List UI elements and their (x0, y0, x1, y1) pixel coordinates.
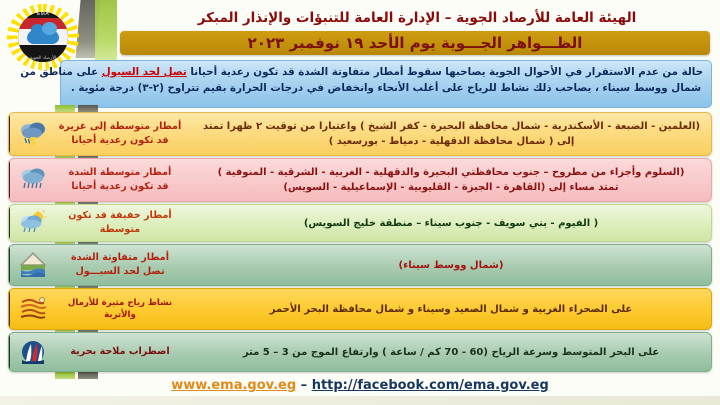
row-label-cell: أمطار خفيفة قد تكون متوسطة (9, 205, 191, 241)
summary-box: حالة من عدم الاستقرار في الأحوال الجوية … (60, 60, 712, 108)
row-label-cell: أمطار متفاوتة الشدة تصل لحد السيـــول (9, 245, 191, 285)
row-label-line-1: أمطار خفيفة قد تكون متوسطة (55, 209, 185, 237)
row-areas-line-1: (السلوم وأجزاء من مطروح – جنوب محافظتي ا… (203, 165, 699, 180)
row-label-line-1: اضطراب ملاحة بحرية (55, 345, 185, 359)
row-label-text: أمطار متوسطة الشدة قد تكون رعدية أحيانا (55, 166, 185, 194)
row-label-cell: أمطار متوسطة إلى غزيرة قد تكون رعدية أحي… (9, 113, 191, 155)
row-label-line-1: أمطار متوسطة إلى غزيرة (55, 120, 185, 134)
row-areas-cell: ( الفيوم - بني سويف - جنوب سيناء – منطقة… (191, 205, 711, 241)
cloud-icon (27, 29, 59, 44)
organization-title: الهيئة العامة للأرصاد الجوية – الإدارة ا… (120, 10, 714, 26)
row-label-line-1: نشاط رياح مثيرة للأرمال والأتربة (55, 297, 185, 322)
bottom-strip (0, 396, 720, 405)
table-row: أمطار متوسطة إلى غزيرة قد تكون رعدية أحي… (8, 112, 712, 156)
row-label-line-1: أمطار متوسطة الشدة (55, 166, 185, 180)
page-title: الظـــواهر الجـــوية يوم الأحد ١٩ نوفمبر… (248, 34, 583, 52)
table-row: اضطراب ملاحة بحرية على البحر المتوسط وسر… (8, 332, 712, 372)
table-row: نشاط رياح مثيرة للأرمال والأتربة على الص… (8, 288, 712, 330)
footer-links: www.ema.gov.eg – http://facebook.com/ema… (0, 378, 720, 393)
row-label-text: أمطار خفيفة قد تكون متوسطة (55, 209, 185, 237)
row-label-text: اضطراب ملاحة بحرية (55, 345, 185, 359)
row-areas-cell: على البحر المتوسط وسرعة الرياح (60 - 70 … (191, 333, 711, 371)
website-link[interactable]: www.ema.gov.eg (171, 378, 296, 393)
table-row: أمطار متفاوتة الشدة تصل لحد السيـــول (ش… (8, 244, 712, 286)
row-label-text: نشاط رياح مثيرة للأرمال والأتربة (55, 297, 185, 322)
logo-disc: EMA الأرصاد الجوية (18, 12, 68, 62)
weather-bulletin-page: EMA الأرصاد الجوية الهيئة العامة للأرصاد… (0, 0, 720, 405)
row-areas-cell: على الصحراء الغربية و شمال الصعيد وسيناء… (191, 289, 711, 329)
footer-separator: – (296, 378, 312, 393)
row-areas-line-2: إلى ( شمال محافظة الدقهلية - دمياط - بور… (203, 134, 700, 149)
row-areas-line-1: (العلمين - الضبعة - الأسكندرية - شمال مح… (203, 119, 700, 134)
summary-line-2: شمال ووسط سيناء ، يصاحب ذلك نشاط للرياح … (69, 81, 703, 97)
row-label-text: أمطار متفاوتة الشدة تصل لحد السيـــول (55, 251, 185, 279)
summary-text-b: على مناطق من (20, 66, 101, 78)
summary-text-a: حالة من عدم الاستقرار في الأحوال الجوية … (187, 66, 703, 78)
flood-warning-text: تصل لحد السيول (102, 66, 187, 78)
row-areas-line-1: على البحر المتوسط وسرعة الرياح (60 - 70 … (203, 345, 699, 360)
table-row: أمطار متوسطة الشدة قد تكون رعدية أحيانا … (8, 158, 712, 202)
logo-acronym: EMA (18, 12, 68, 17)
row-areas-line-1: ( الفيوم - بني سويف - جنوب سيناء – منطقة… (203, 216, 699, 231)
dust-wind-icon (16, 296, 50, 322)
row-label-line-2: تصل لحد السيـــول (55, 265, 185, 279)
row-areas-cell: (شمال ووسط سيناء) (191, 245, 711, 285)
row-areas-line-1: (شمال ووسط سيناء) (203, 258, 699, 273)
summary-line-1: حالة من عدم الاستقرار في الأحوال الجوية … (69, 65, 703, 81)
rain-cloud-icon (16, 166, 50, 194)
thunderstorm-cloud-icon (16, 120, 50, 148)
facebook-link[interactable]: http://facebook.com/ema.gov.eg (312, 378, 549, 393)
row-label-line-1: أمطار متفاوتة الشدة (55, 251, 185, 265)
bulletin-title-bar: الظـــواهر الجـــوية يوم الأحد ١٩ نوفمبر… (120, 31, 710, 55)
rough-sea-waves-icon (16, 340, 50, 364)
row-areas-line-1: على الصحراء الغربية و شمال الصعيد وسيناء… (203, 302, 699, 317)
row-areas-cell: (السلوم وأجزاء من مطروح – جنوب محافظتي ا… (191, 159, 711, 201)
logo-subtext: الأرصاد الجوية (18, 56, 68, 61)
row-label-text: أمطار متوسطة إلى غزيرة قد تكون رعدية أحي… (55, 120, 185, 148)
row-label-cell: نشاط رياح مثيرة للأرمال والأتربة (9, 289, 191, 329)
flood-torrent-icon (16, 251, 50, 279)
table-row: أمطار خفيفة قد تكون متوسطة ( الفيوم - بن… (8, 204, 712, 242)
row-label-line-2: قد تكون رعدية أحيانا (55, 180, 185, 194)
decorative-tab-1 (52, 105, 98, 112)
row-label-line-2: قد تكون رعدية أحيانا (55, 134, 185, 148)
row-label-cell: اضطراب ملاحة بحرية (9, 333, 191, 371)
sun-behind-rain-cloud-icon (16, 210, 50, 236)
row-areas-line-2: تمتد مساء إلى (القاهرة - الجيزة - القليو… (203, 180, 699, 195)
row-areas-cell: (العلمين - الضبعة - الأسكندرية - شمال مح… (191, 113, 712, 155)
row-label-cell: أمطار متوسطة الشدة قد تكون رعدية أحيانا (9, 159, 191, 201)
